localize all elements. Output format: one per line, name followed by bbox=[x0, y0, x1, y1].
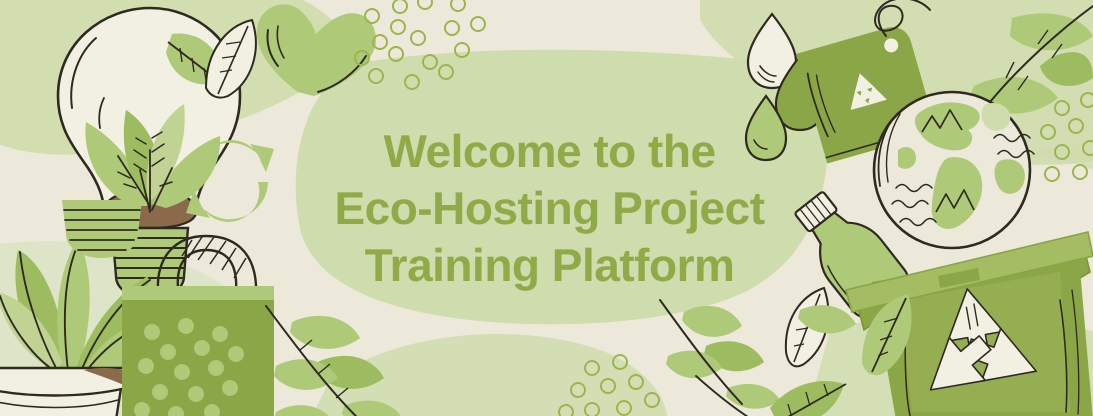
title-backdrop-blob bbox=[296, 50, 829, 324]
lightbulb-icon bbox=[62, 200, 142, 258]
welcome-banner: Welcome to the Eco-Hosting Project Train… bbox=[0, 0, 1093, 416]
banner-artwork bbox=[0, 0, 1093, 416]
